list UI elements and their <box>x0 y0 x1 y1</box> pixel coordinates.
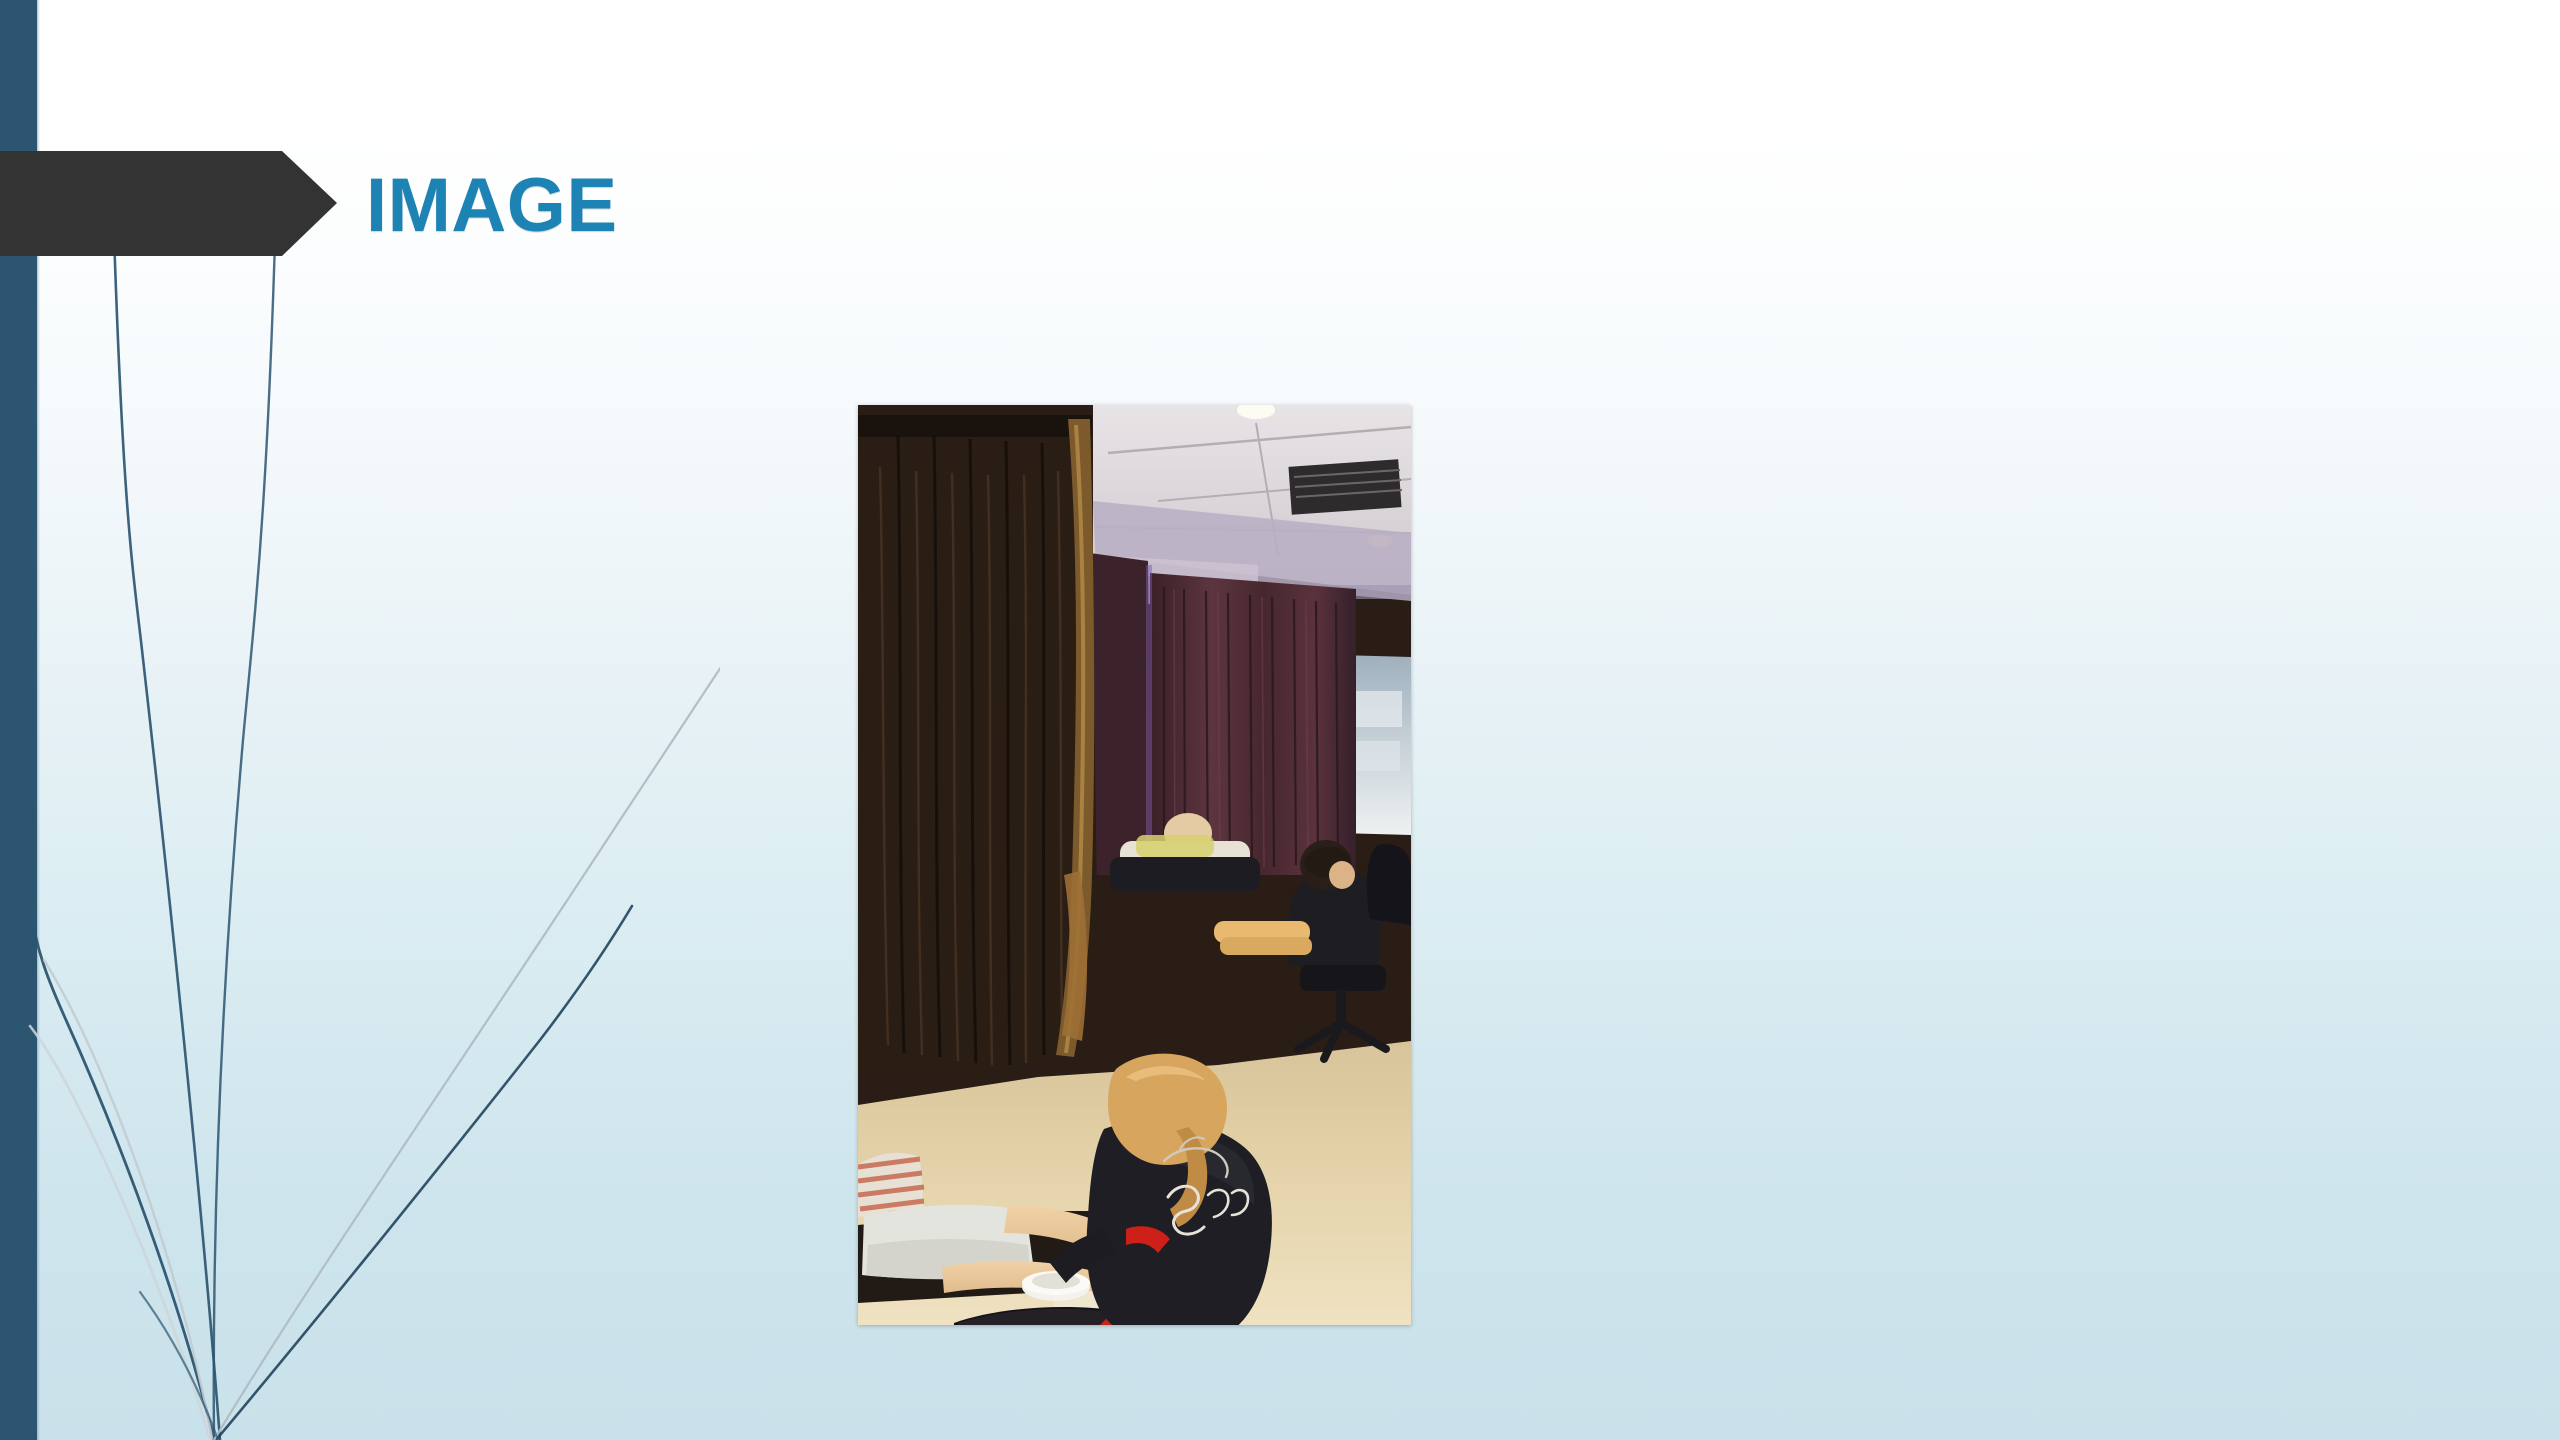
grass-strand-light-1 <box>214 510 720 1440</box>
grass-strand-dark-2 <box>214 180 277 1440</box>
grass-strand-light-2 <box>44 960 212 1438</box>
slide-photo <box>858 405 1411 1325</box>
chevron-shape <box>0 151 337 256</box>
grass-strand-light-3 <box>30 1026 210 1440</box>
title-banner-chevron <box>0 151 337 256</box>
page-title: IMAGE <box>366 158 618 253</box>
grass-strands-decoration <box>0 180 720 1440</box>
privacy-curtain <box>858 415 1098 1077</box>
maroon-curtains <box>1090 553 1356 875</box>
grass-strand-dark-4 <box>216 906 632 1440</box>
grass-strand-dark-1 <box>112 180 220 1440</box>
grass-strand-dark-5 <box>140 1292 218 1440</box>
presentation-slide: IMAGE <box>0 0 2560 1440</box>
grass-strand-dark-3 <box>30 905 214 1440</box>
background-person-silhouette <box>1367 844 1411 925</box>
